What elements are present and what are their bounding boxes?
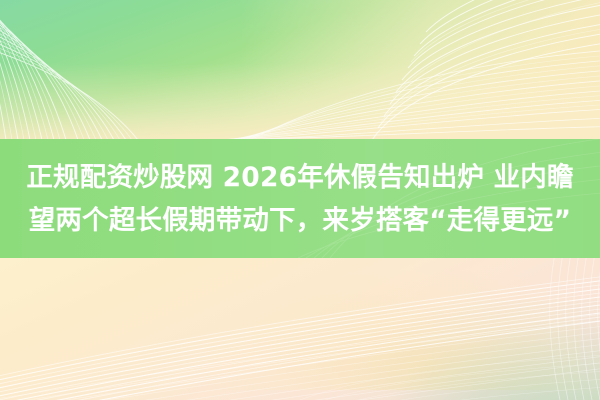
headline-line-1: 正规配资炒股网 2026年休假告知出炉 业内瞻 <box>22 156 578 199</box>
article-header-banner: 正规配资炒股网 2026年休假告知出炉 业内瞻 望两个超长假期带动下，来岁搭客“… <box>0 0 600 400</box>
bottom-teal-glow <box>340 300 600 400</box>
headline-line-2: 望两个超长假期带动下，来岁搭客“走得更远” <box>22 199 578 242</box>
top-gradient-cream-bottom <box>0 0 600 140</box>
headline-band: 正规配资炒股网 2026年休假告知出炉 业内瞻 望两个超长假期带动下，来岁搭客“… <box>0 139 600 258</box>
top-decorative-panel <box>0 0 600 140</box>
bottom-decorative-panel <box>0 258 600 400</box>
